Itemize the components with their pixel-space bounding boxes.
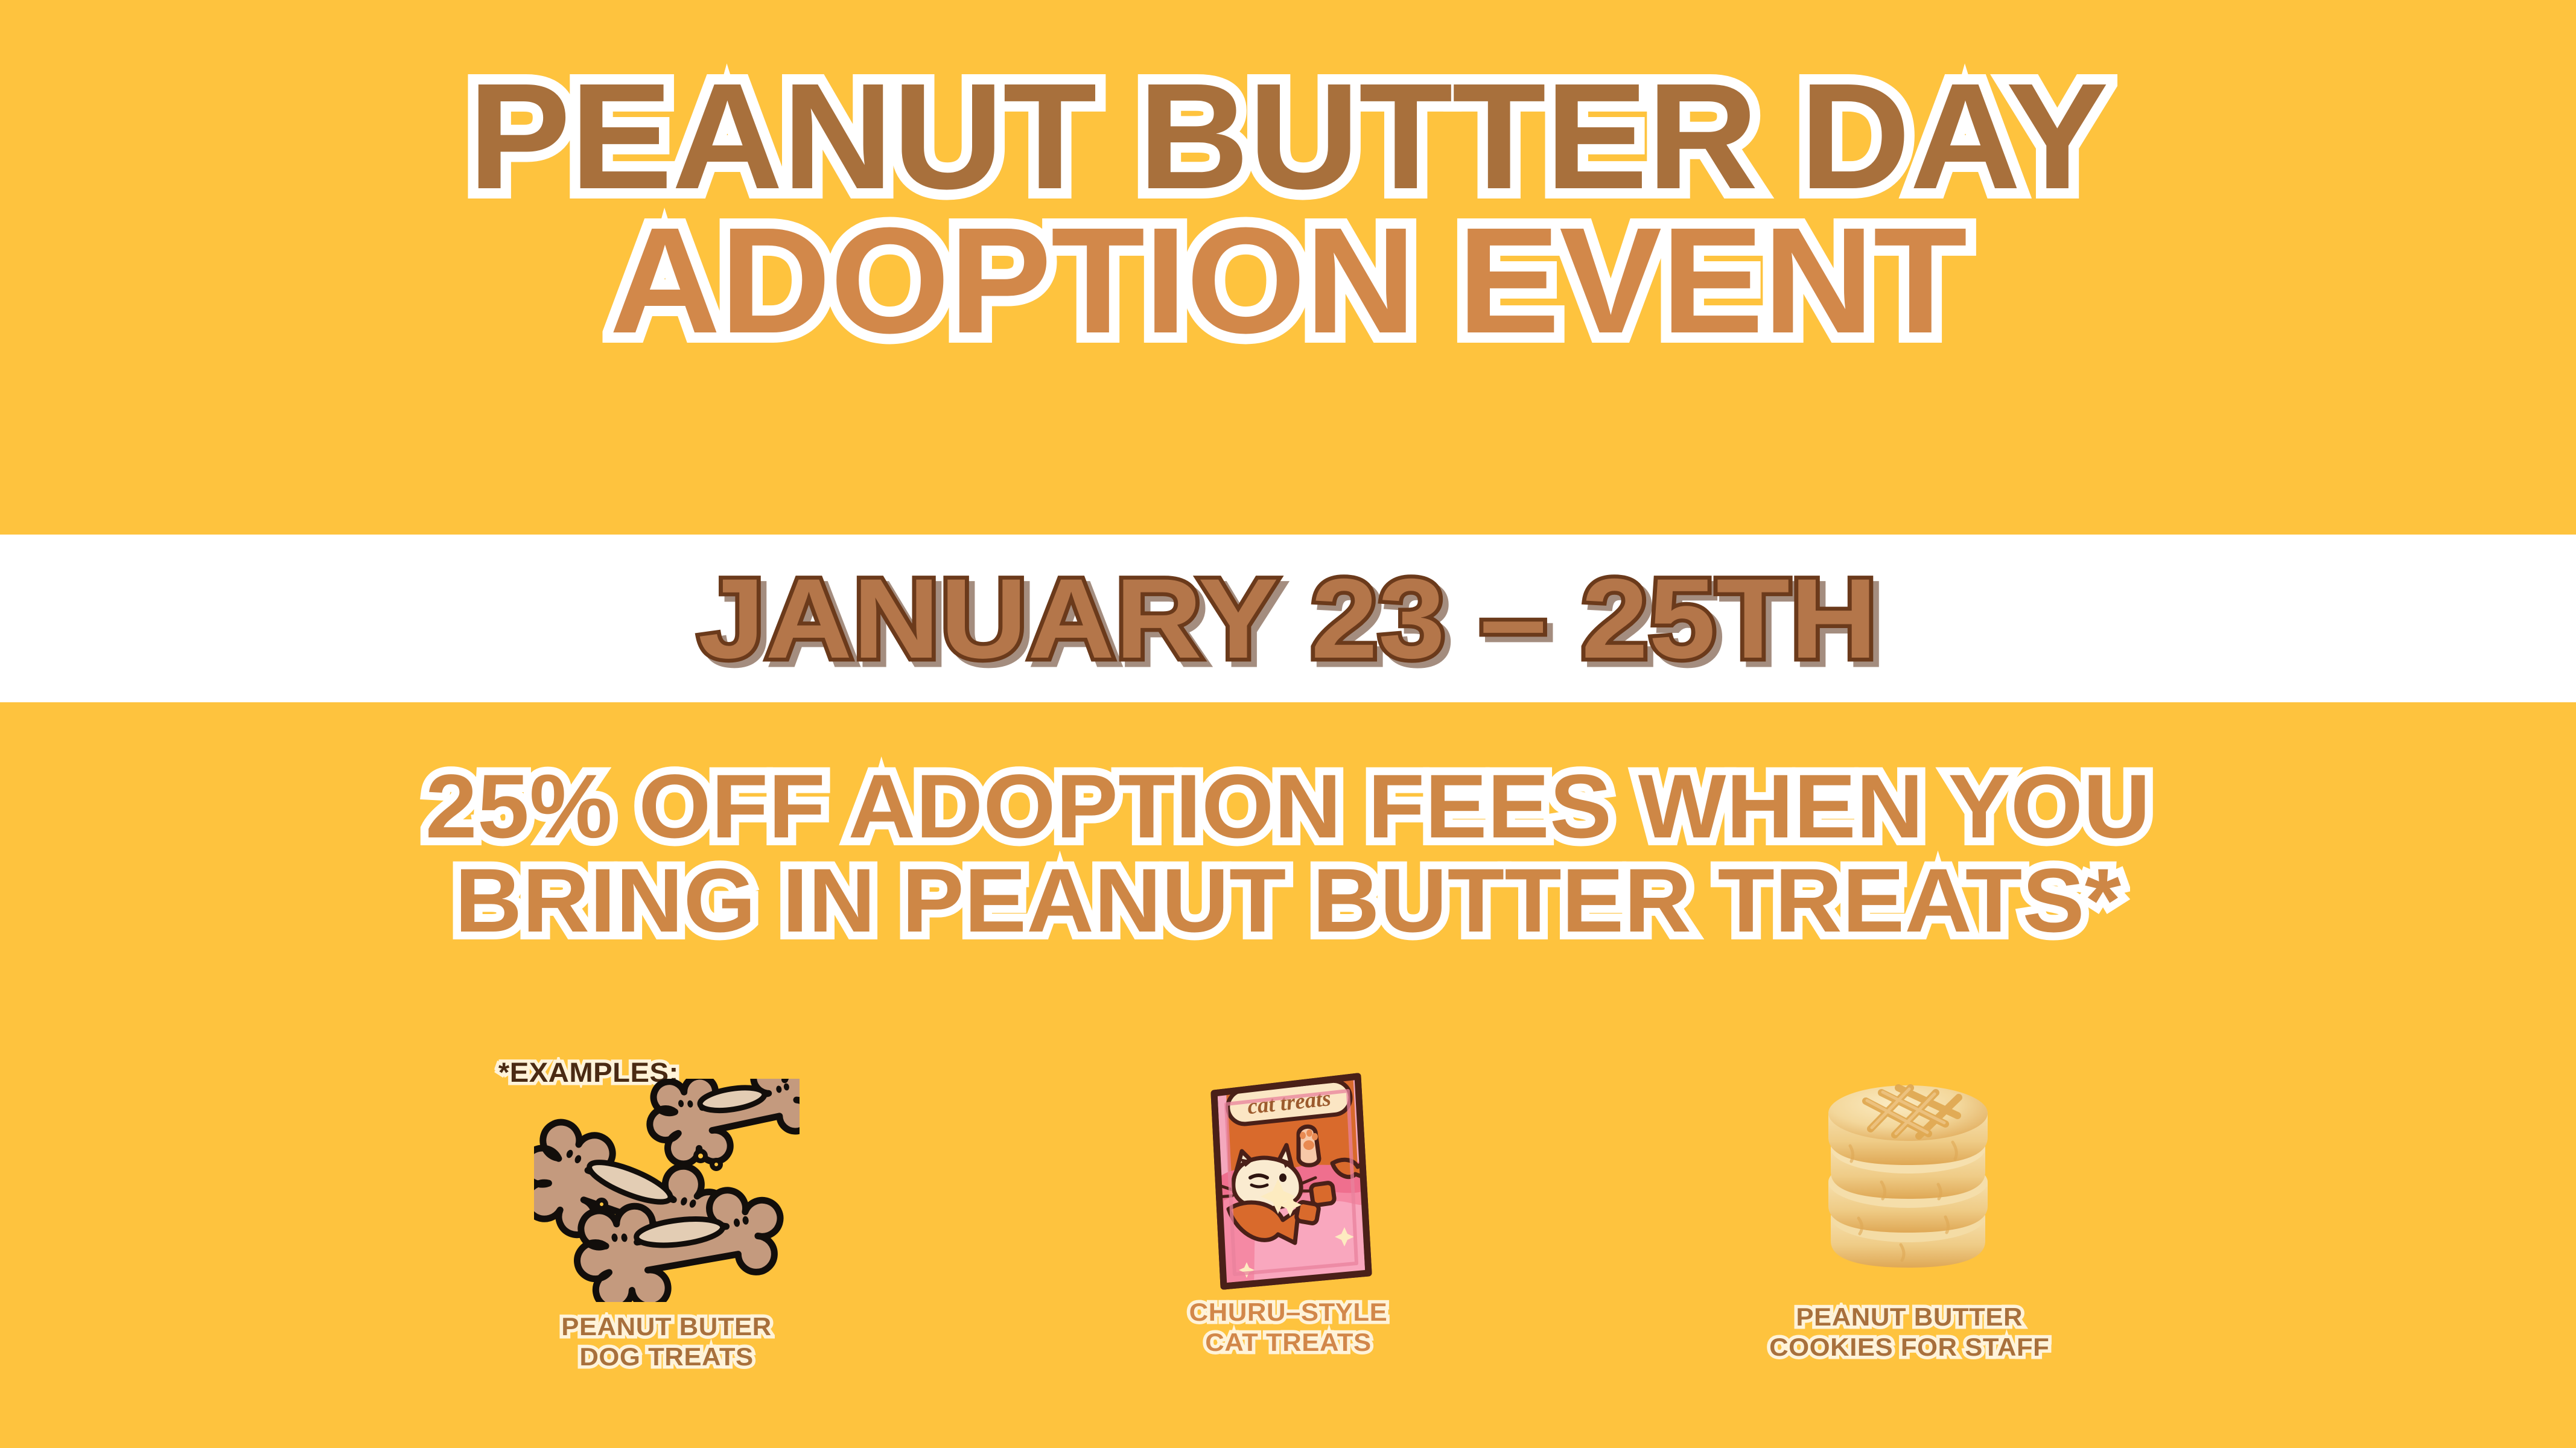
example-item-cookies: PEANUT BUTTER COOKIES FOR STAFF <box>1768 1061 2052 1363</box>
date-banner-text: JANUARY 23 – 25TH <box>698 562 1878 675</box>
title-line-1: PEANUT BUTTER DAY <box>0 66 2576 207</box>
example-item-dog-treats: PEANUT BUTER DOG TREATS <box>525 1062 809 1373</box>
offer-headline: 25% OFF ADOPTION FEES WHEN YOU BRING IN … <box>0 759 2576 947</box>
promotional-poster: PEANUT BUTTER DAY ADOPTION EVENT JANUARY… <box>0 0 2576 1448</box>
poster-title: PEANUT BUTTER DAY ADOPTION EVENT <box>0 66 2576 351</box>
examples-row: PEANUT BUTER DOG TREATS <box>0 1062 2576 1373</box>
peanut-butter-cookie-stack-icon <box>1810 1061 2009 1298</box>
cat-treat-pouch-icon: cat treats <box>1189 1058 1388 1294</box>
dog-bone-biscuits-icon <box>534 1062 800 1308</box>
example-caption-cat-treats: CHURU–STYLE CAT TREATS <box>1189 1297 1387 1358</box>
date-banner: JANUARY 23 – 25TH <box>0 535 2576 702</box>
example-caption-dog-treats: PEANUT BUTER DOG TREATS <box>561 1312 771 1373</box>
offer-headline-line-2: BRING IN PEANUT BUTTER TREATS* <box>0 853 2576 947</box>
example-item-cat-treats: cat treats CHURU–STYLE CAT TREATS <box>1146 1058 1430 1358</box>
offer-headline-line-1: 25% OFF ADOPTION FEES WHEN YOU <box>0 759 2576 853</box>
title-line-2: ADOPTION EVENT <box>0 211 2576 351</box>
example-caption-cookies: PEANUT BUTTER COOKIES FOR STAFF <box>1769 1302 2049 1363</box>
